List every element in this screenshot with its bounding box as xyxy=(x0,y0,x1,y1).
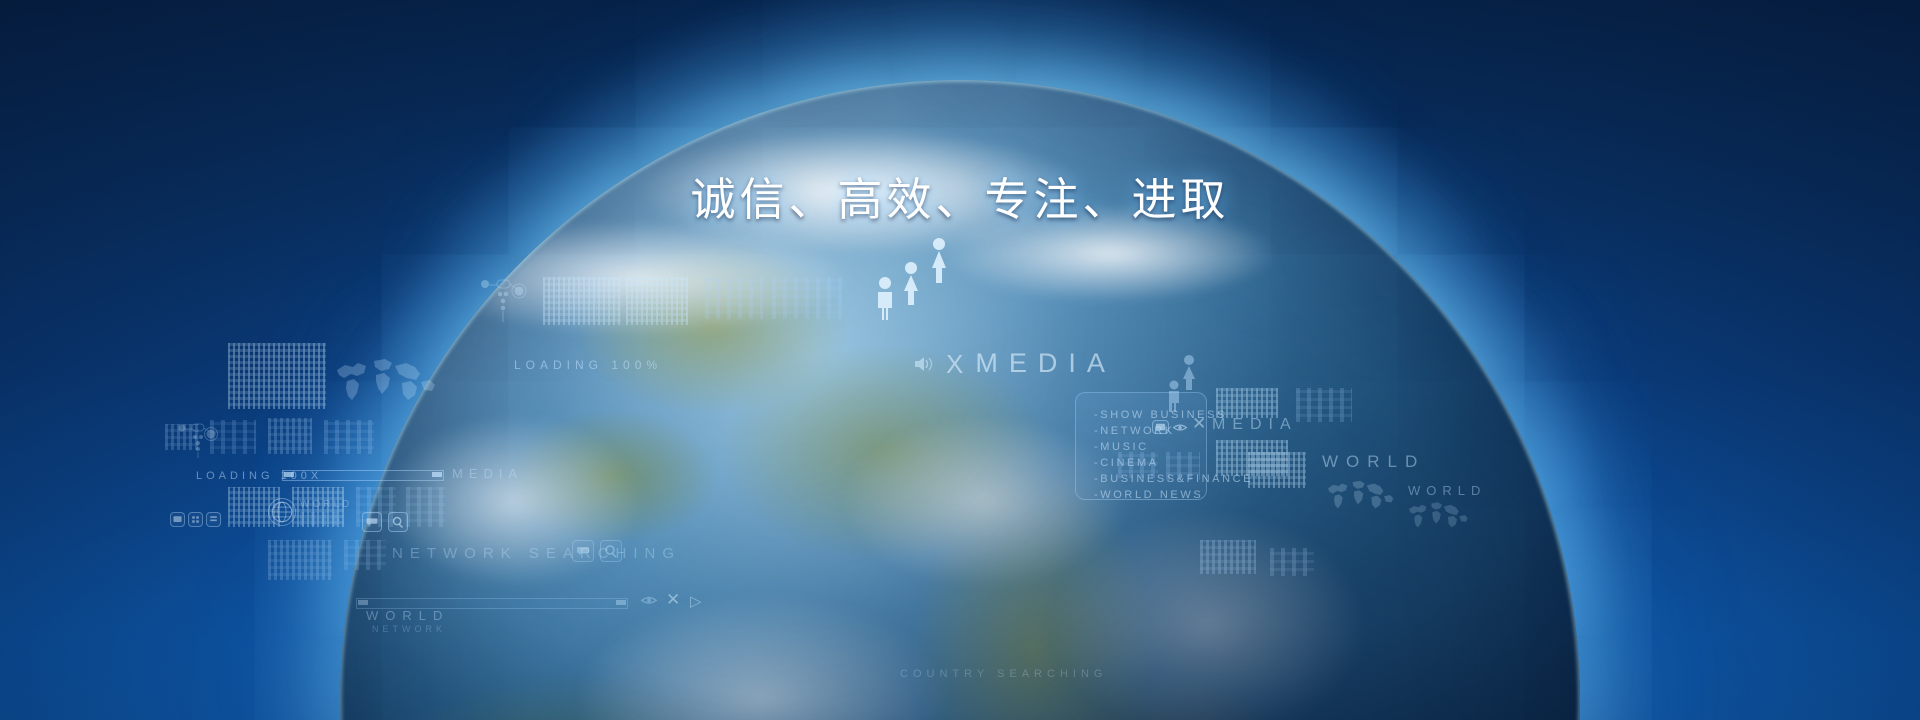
list-icon xyxy=(206,512,221,527)
loading-bottom-label: LOADING 100X xyxy=(196,470,322,482)
page-title: 诚信、高效、专注、进取 xyxy=(0,163,1920,228)
data-text-block xyxy=(210,420,256,454)
data-text-block xyxy=(268,418,312,454)
grid-icon xyxy=(188,512,203,527)
data-text-block xyxy=(228,487,280,527)
hero-banner: 诚信、高效、专注、进取 LOADING 100X xyxy=(0,0,1920,720)
monitor-icon xyxy=(170,512,185,527)
data-text-block xyxy=(165,424,199,450)
network-node-icon xyxy=(175,420,221,460)
data-text-block xyxy=(228,343,326,409)
globe-icon xyxy=(268,498,296,526)
